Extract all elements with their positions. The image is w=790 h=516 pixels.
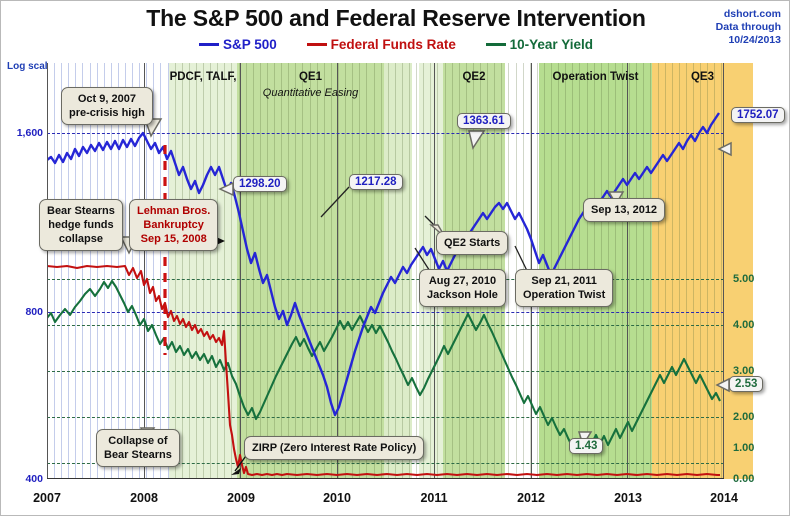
series-paths: [47, 63, 724, 479]
data-through-date: 10/24/2013: [677, 34, 781, 47]
callout-zirp: ZIRP (Zero Interest Rate Policy): [244, 436, 424, 460]
xtick-2009: 2009: [211, 491, 271, 505]
callout-line: Oct 9, 2007: [69, 92, 145, 106]
callout-line: QE2 Starts: [444, 236, 500, 250]
ytick-right-5: 5.00: [733, 273, 754, 285]
callout-operation-twist: Sep 21, 2011 Operation Twist: [515, 269, 613, 307]
page-title: The S&P 500 and Federal Reserve Interven…: [1, 5, 790, 32]
callout-line: pre-crisis high: [69, 106, 145, 120]
value-label-1298: 1298.20: [233, 176, 287, 192]
ytick-right-2: 2.00: [733, 411, 754, 423]
callout-oct-2007-high: Oct 9, 2007 pre-crisis high: [61, 87, 153, 125]
xtick-2007: 2007: [17, 491, 77, 505]
brand-name: dshort.com: [677, 8, 781, 21]
ytick-right-0: 0.00: [733, 473, 754, 485]
legend-item-10yr: 10-Year Yield: [486, 37, 593, 52]
legend-item-sp500: S&P 500: [199, 37, 277, 52]
band-label-operation-twist: Operation Twist: [539, 71, 652, 83]
callout-line: Collapse of: [104, 434, 172, 448]
callout-bear-stearns-hedge: Bear Stearns hedge funds collapse: [39, 199, 123, 251]
legend-label-10yr: 10-Year Yield: [510, 37, 593, 52]
callout-lehman-bankruptcy: Lehman Bros. Bankruptcy Sep 15, 2008: [129, 199, 218, 251]
callout-line: Bear Stearns: [47, 204, 115, 218]
callout-line: ZIRP (Zero Interest Rate Policy): [252, 441, 416, 455]
callout-line: Aug 27, 2010: [427, 274, 498, 288]
callout-line: Bankruptcy: [137, 218, 210, 232]
xtick-2012: 2012: [501, 491, 561, 505]
chart-legend: S&P 500 Federal Funds Rate 10-Year Yield: [1, 37, 790, 52]
plot-right-border: [723, 63, 724, 479]
callout-sep-2012: Sep 13, 2012: [583, 198, 665, 222]
chart-page: The S&P 500 and Federal Reserve Interven…: [0, 0, 790, 516]
band-sublabel-qe1: Quantitative Easing: [237, 87, 384, 99]
ytick-left-1600: 1,600: [3, 127, 43, 139]
callout-line: Operation Twist: [523, 288, 605, 302]
ytick-right-1: 1.00: [733, 442, 754, 454]
callout-line: Sep 13, 2012: [591, 203, 657, 217]
value-label-1217: 1217.28: [349, 174, 403, 190]
callout-collapse-bear-stearns: Collapse of Bear Stearns: [96, 429, 180, 467]
callout-qe2-starts: QE2 Starts: [436, 231, 508, 255]
band-label-qe2: QE2: [443, 71, 505, 83]
legend-swatch-fedfunds: [307, 43, 327, 46]
xtick-2013: 2013: [598, 491, 658, 505]
legend-label-sp500: S&P 500: [223, 37, 277, 52]
plot-area: PDCF, TALF, QE1 Quantitative Easing QE2 …: [47, 63, 724, 479]
legend-swatch-sp500: [199, 43, 219, 46]
callout-jackson-hole: Aug 27, 2010 Jackson Hole: [419, 269, 506, 307]
ytick-left-400: 400: [3, 473, 43, 485]
plot-left-border: [47, 63, 48, 479]
brand-block: dshort.com Data through 10/24/2013: [677, 8, 781, 47]
value-label-253: 2.53: [729, 376, 763, 392]
band-label-qe3: QE3: [652, 71, 753, 83]
callout-line: Bear Stearns: [104, 448, 172, 462]
callout-line: Sep 15, 2008: [137, 232, 210, 246]
xtick-2014: 2014: [694, 491, 754, 505]
band-label-qe1: QE1: [237, 71, 384, 83]
ytick-left-800: 800: [3, 306, 43, 318]
legend-swatch-10yr: [486, 43, 506, 46]
value-label-143: 1.43: [569, 438, 603, 454]
xtick-2011: 2011: [404, 491, 464, 505]
value-label-1752: 1752.07: [731, 107, 785, 123]
callout-line: Lehman Bros.: [137, 204, 210, 218]
legend-item-fedfunds: Federal Funds Rate: [307, 37, 456, 52]
callout-line: hedge funds: [47, 218, 115, 232]
data-through-label: Data through: [677, 21, 781, 34]
callout-line: Jackson Hole: [427, 288, 498, 302]
series-path-10yr: [47, 281, 720, 450]
value-label-1363: 1363.61: [457, 113, 511, 129]
xtick-2008: 2008: [114, 491, 174, 505]
callout-line: Sep 21, 2011: [523, 274, 605, 288]
callout-line: collapse: [47, 232, 115, 246]
series-path-sp500: [47, 113, 719, 415]
ytick-right-4: 4.00: [733, 319, 754, 331]
legend-label-fedfunds: Federal Funds Rate: [331, 37, 456, 52]
xtick-2010: 2010: [307, 491, 367, 505]
plot-bottom-border: [47, 478, 724, 479]
band-label-pdcf-talf: PDCF, TALF,: [169, 71, 237, 83]
